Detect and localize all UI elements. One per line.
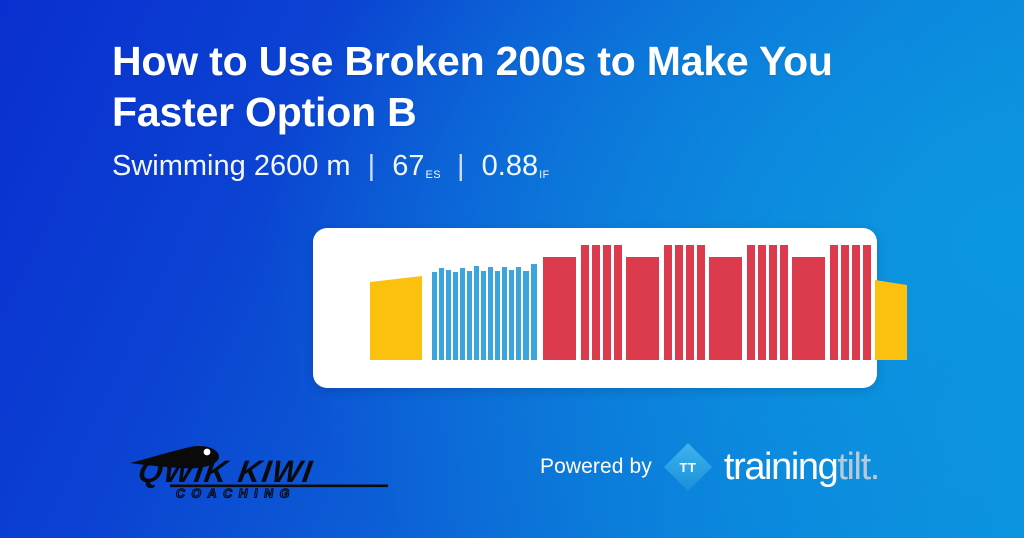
chart-bar-set1-rep-c	[603, 245, 611, 360]
chart-bar-set4-rep-b	[841, 245, 849, 360]
wordmark-tilt: tilt	[837, 446, 869, 488]
chart-bar-drill-2	[439, 268, 444, 360]
chart-bar-set2-rep-c	[686, 245, 694, 360]
workout-summary: Swimming 2600 m | 67ES | 0.88IF	[112, 149, 942, 189]
chart-bar-set1-main	[543, 257, 576, 360]
chart-bar-set3-rep-a	[747, 245, 755, 360]
es-value: 67	[392, 150, 424, 182]
header-block: How to Use Broken 200s to Make You Faste…	[112, 36, 942, 189]
chart-bar-set2-rep-a	[664, 245, 672, 360]
powered-by-trainingtilt: Powered by TT trainingtilt.	[540, 443, 879, 491]
summary-separator-2: |	[448, 149, 474, 183]
qwik-kiwi-wordmark: QWIK KIWI	[136, 454, 401, 489]
chart-bar-cooldown	[875, 280, 907, 360]
chart-bar-drill-11	[502, 267, 507, 360]
chart-bar-drill-13	[516, 267, 521, 360]
chart-bar-set3-main	[709, 257, 742, 360]
chart-bar-set4-rep-a	[830, 245, 838, 360]
chart-bar-set3-rep-d	[780, 245, 788, 360]
chart-bar-set1-rep-d	[614, 245, 622, 360]
page-title: How to Use Broken 200s to Make You Faste…	[112, 36, 942, 138]
chart-bar-drill-3	[446, 270, 451, 360]
chart-bar-drill-1	[432, 272, 437, 360]
summary-separator-1: |	[359, 149, 385, 183]
trainingtilt-wordmark: trainingtilt.	[724, 448, 879, 486]
workout-bar-chart	[313, 228, 877, 388]
svg-text:COACHING: COACHING	[175, 487, 297, 499]
poster-canvas: How to Use Broken 200s to Make You Faste…	[0, 0, 1024, 538]
if-value: 0.88	[482, 150, 538, 182]
tt-monogram: TT	[665, 444, 711, 490]
chart-bar-set3-rep-b	[758, 245, 766, 360]
workout-chart-card	[313, 228, 877, 388]
chart-bar-drill-14	[523, 271, 529, 360]
sport-label: Swimming	[112, 150, 246, 182]
chart-bar-set2-rep-d	[697, 245, 705, 360]
if-unit: IF	[539, 169, 550, 181]
chart-bar-set3-rep-c	[769, 245, 777, 360]
svg-text:QWIK KIWI: QWIK KIWI	[136, 454, 316, 489]
chart-bar-drill-7	[474, 266, 479, 360]
distance-label: 2600 m	[254, 150, 351, 182]
chart-bar-set4-rep-c	[852, 245, 860, 360]
chart-bar-drill-9	[488, 267, 493, 360]
qwik-kiwi-logo: QWIK KIWI COACHING	[128, 437, 406, 499]
chart-bar-set1-rep-a	[581, 245, 589, 360]
wordmark-training: training	[724, 446, 837, 488]
chart-bar-drill-4	[453, 272, 458, 360]
chart-bar-drill-8	[481, 271, 486, 360]
chart-bar-drill-10	[495, 271, 500, 360]
chart-bar-drill-6	[467, 271, 472, 360]
chart-bar-set2-main	[626, 257, 659, 360]
wordmark-dot: .	[870, 446, 879, 488]
chart-bar-set2-rep-b	[675, 245, 683, 360]
powered-by-label: Powered by	[540, 455, 652, 479]
coaching-wordmark: COACHING	[175, 487, 297, 499]
chart-bar-set4-rep-d	[863, 245, 871, 360]
chart-bar-set1-rep-b	[592, 245, 600, 360]
es-unit: ES	[425, 169, 440, 181]
chart-bar-drill-5	[460, 268, 465, 360]
chart-bar-drill-15	[531, 264, 537, 360]
trainingtilt-diamond-icon: TT	[665, 444, 711, 490]
chart-bar-drill-12	[509, 270, 514, 360]
chart-bar-warmup	[370, 276, 422, 360]
chart-bar-set4-main	[792, 257, 825, 360]
